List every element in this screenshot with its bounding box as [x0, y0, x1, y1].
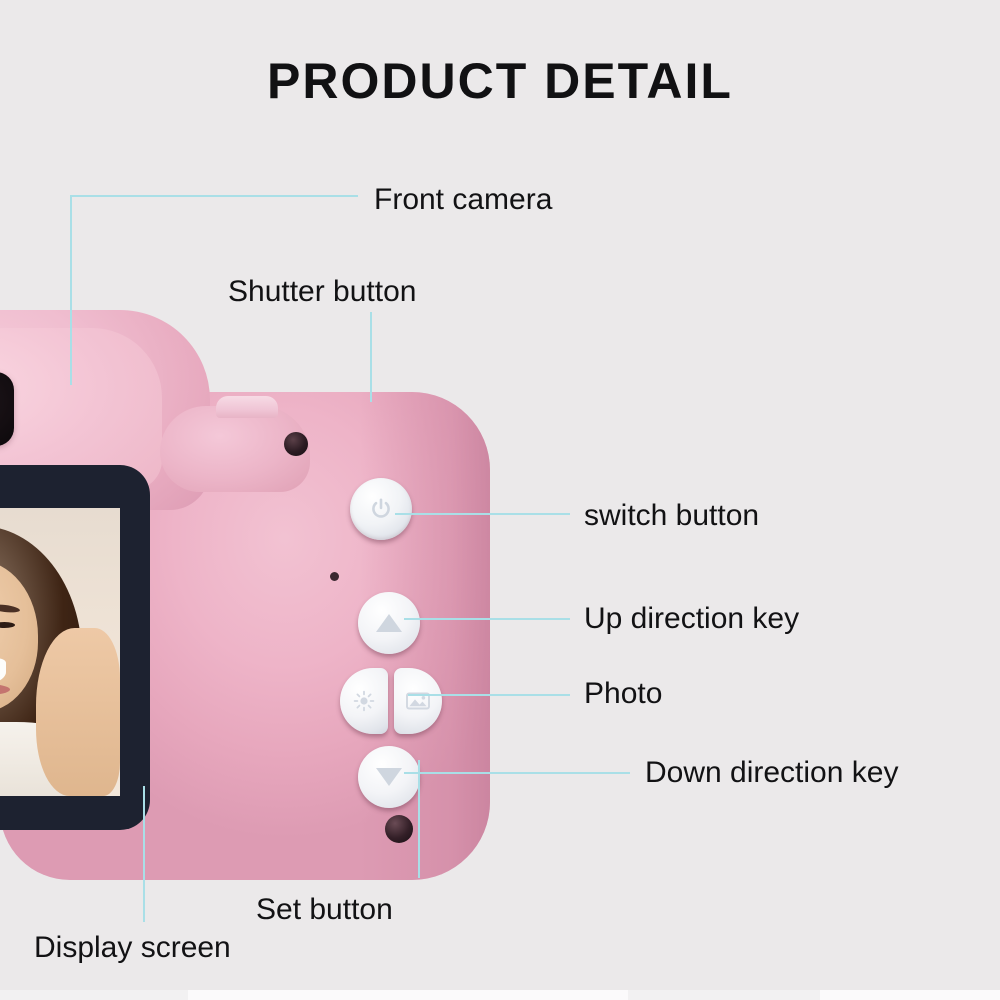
switch-button[interactable] — [350, 478, 412, 540]
photo-button[interactable] — [394, 668, 442, 734]
leader-up-direction-key — [404, 618, 570, 620]
bottom-strip-segment — [188, 990, 628, 1000]
photo-right-arm — [36, 628, 120, 796]
leader-switch-button — [395, 513, 570, 515]
bottom-edge-strip — [0, 990, 1000, 1000]
label-switch-button: switch button — [584, 501, 759, 531]
leader-display-screen — [143, 786, 145, 922]
label-photo: Photo — [584, 679, 662, 709]
label-display-screen: Display screen — [34, 933, 231, 963]
label-down-direction-key: Down direction key — [645, 758, 898, 788]
bottom-strip-segment — [820, 990, 1000, 1000]
leader-photo — [408, 694, 570, 696]
front-camera-lens — [0, 372, 14, 446]
screw-dot — [385, 815, 413, 843]
down-direction-key[interactable] — [358, 746, 420, 808]
shutter-button-nub[interactable] — [216, 396, 278, 418]
power-icon — [350, 478, 412, 540]
label-shutter-button: Shutter button — [228, 277, 416, 307]
label-set-button: Set button — [256, 895, 393, 925]
up-direction-key[interactable] — [358, 592, 420, 654]
microphone-dot — [284, 432, 308, 456]
product-image-camera — [0, 310, 500, 880]
display-screen-photo — [0, 508, 120, 796]
label-front-camera: Front camera — [374, 185, 552, 215]
page-title: PRODUCT DETAIL — [0, 52, 1000, 110]
leader-shutter-button — [370, 312, 372, 402]
set-button[interactable] — [340, 668, 388, 734]
triangle-up-icon — [358, 592, 420, 654]
picture-icon — [394, 668, 442, 734]
triangle-down-icon — [358, 746, 420, 808]
leader-front-camera-horizontal — [70, 195, 358, 197]
leader-down-direction-key — [404, 772, 630, 774]
sun-brightness-icon — [340, 668, 388, 734]
indicator-dot — [330, 572, 339, 581]
leader-front-camera-vertical — [70, 195, 72, 385]
leader-set-button — [418, 760, 420, 878]
label-up-direction-key: Up direction key — [584, 604, 799, 634]
